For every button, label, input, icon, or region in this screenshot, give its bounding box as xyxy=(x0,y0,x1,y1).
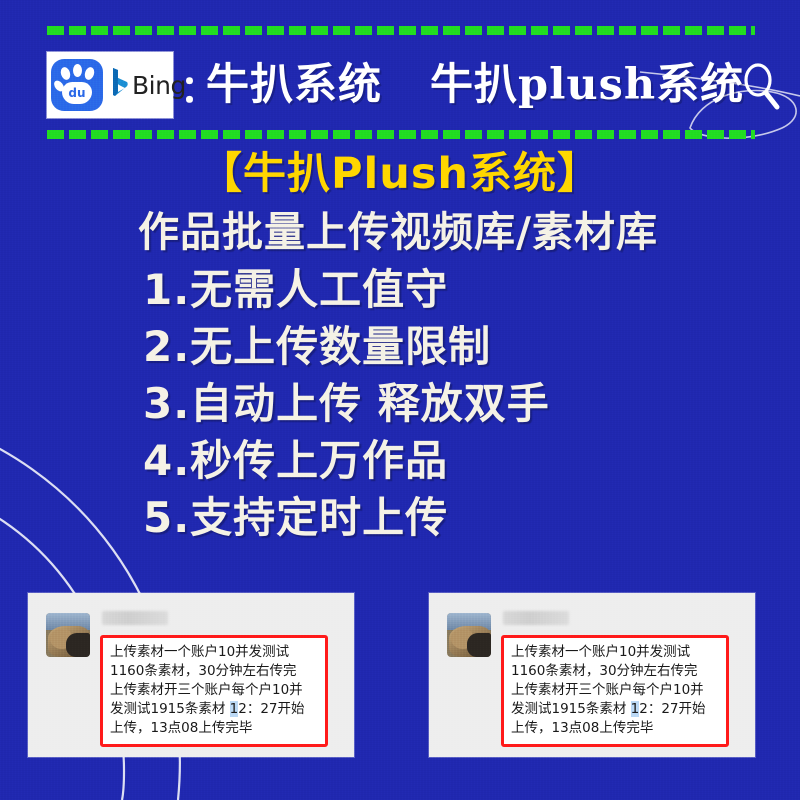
feature-item-2: 2.无上传数量限制 xyxy=(0,318,800,375)
header-title-secondary: 牛扒plush系统 xyxy=(430,50,744,112)
chat-screenshot-left: 上传素材一个账户10并发测试 1160条素材，30分钟左右传完 上传素材开三个账… xyxy=(28,593,354,757)
chat-line: 1160条素材，30分钟左右传完 xyxy=(511,662,719,681)
chat-screenshot-right: 上传素材一个账户10并发测试 1160条素材，30分钟左右传完 上传素材开三个账… xyxy=(429,593,755,757)
chat-line: 发测试1915条素材 12：27开始 xyxy=(110,700,318,719)
dog-photo-avatar xyxy=(46,613,90,657)
chat-line: 上传，13点08上传完毕 xyxy=(511,719,719,738)
chat-line: 上传素材开三个账户每个户10并 xyxy=(110,681,318,700)
blurred-username xyxy=(102,611,168,625)
header-title-primary: 牛扒系统 xyxy=(206,50,382,112)
chat-bubble: 上传素材一个账户10并发测试 1160条素材，30分钟左右传完 上传素材开三个账… xyxy=(501,635,729,747)
baidu-paw-icon: du xyxy=(51,59,103,111)
dog-photo-avatar xyxy=(447,613,491,657)
baidu-du-label: du xyxy=(62,82,92,104)
divider-top xyxy=(47,26,755,35)
chat-line: 上传素材一个账户10并发测试 xyxy=(110,643,318,662)
bing-label: Bing xyxy=(132,71,186,100)
magnifying-glass-icon xyxy=(736,60,784,114)
chat-bubble: 上传素材一个账户10并发测试 1160条素材，30分钟左右传完 上传素材开三个账… xyxy=(100,635,328,747)
chat-line: 上传素材一个账户10并发测试 xyxy=(511,643,719,662)
feature-item-4: 4.秒传上万作品 xyxy=(0,432,800,489)
divider-bottom xyxy=(47,130,755,139)
chat-line: 1160条素材，30分钟左右传完 xyxy=(110,662,318,681)
main-content: 【牛扒Plush系统】 作品批量上传视频库/素材库 1.无需人工值守 2.无上传… xyxy=(0,148,800,546)
search-engine-logo-box: du Bing xyxy=(47,52,173,118)
chat-line: 发测试1915条素材 12：27开始 xyxy=(511,700,719,719)
bing-b-icon xyxy=(112,66,128,104)
feature-item-1: 1.无需人工值守 xyxy=(0,261,800,318)
subtitle: 作品批量上传视频库/素材库 xyxy=(0,204,800,261)
blurred-username xyxy=(503,611,569,625)
chat-line: 上传，13点08上传完毕 xyxy=(110,719,318,738)
page-title: 【牛扒Plush系统】 xyxy=(0,148,800,200)
feature-item-5: 5.支持定时上传 xyxy=(0,489,800,546)
feature-item-3: 3.自动上传 释放双手 xyxy=(0,375,800,432)
chat-line: 上传素材开三个账户每个户10并 xyxy=(511,681,719,700)
bing-logo: Bing xyxy=(112,66,186,104)
header: du Bing ： 牛扒系统 牛扒plush系统 xyxy=(0,44,800,126)
